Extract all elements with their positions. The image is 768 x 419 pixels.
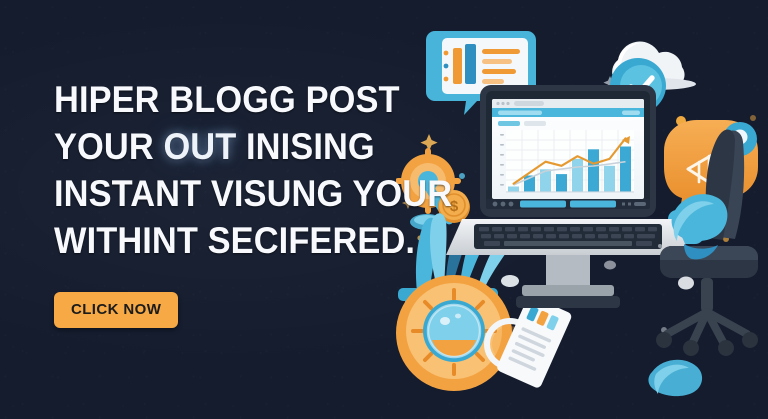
promo-banner: HIPER BLOGG POST YOUR OUT INISING INSTAN… [0, 0, 768, 419]
headline-line-4: WITHINT SECIFERED. [54, 217, 333, 264]
laptop-screen-content [492, 99, 644, 192]
headline-line-3: INSTANT VISUNG YOUR [54, 170, 333, 217]
headline-line-2-after: INISING [236, 126, 374, 167]
click-now-button[interactable]: CLICK NOW [54, 292, 178, 328]
headline-line-2: YOUR OUT INISING [54, 123, 333, 170]
copy-block: HIPER BLOGG POST YOUR OUT INISING INSTAN… [54, 76, 354, 328]
headline-glow-word: OUT [163, 126, 236, 167]
chair-blue-cushion [648, 360, 702, 396]
headline-line-1: HIPER BLOGG POST [54, 76, 333, 123]
headline-line-2-before: YOUR [54, 126, 163, 167]
